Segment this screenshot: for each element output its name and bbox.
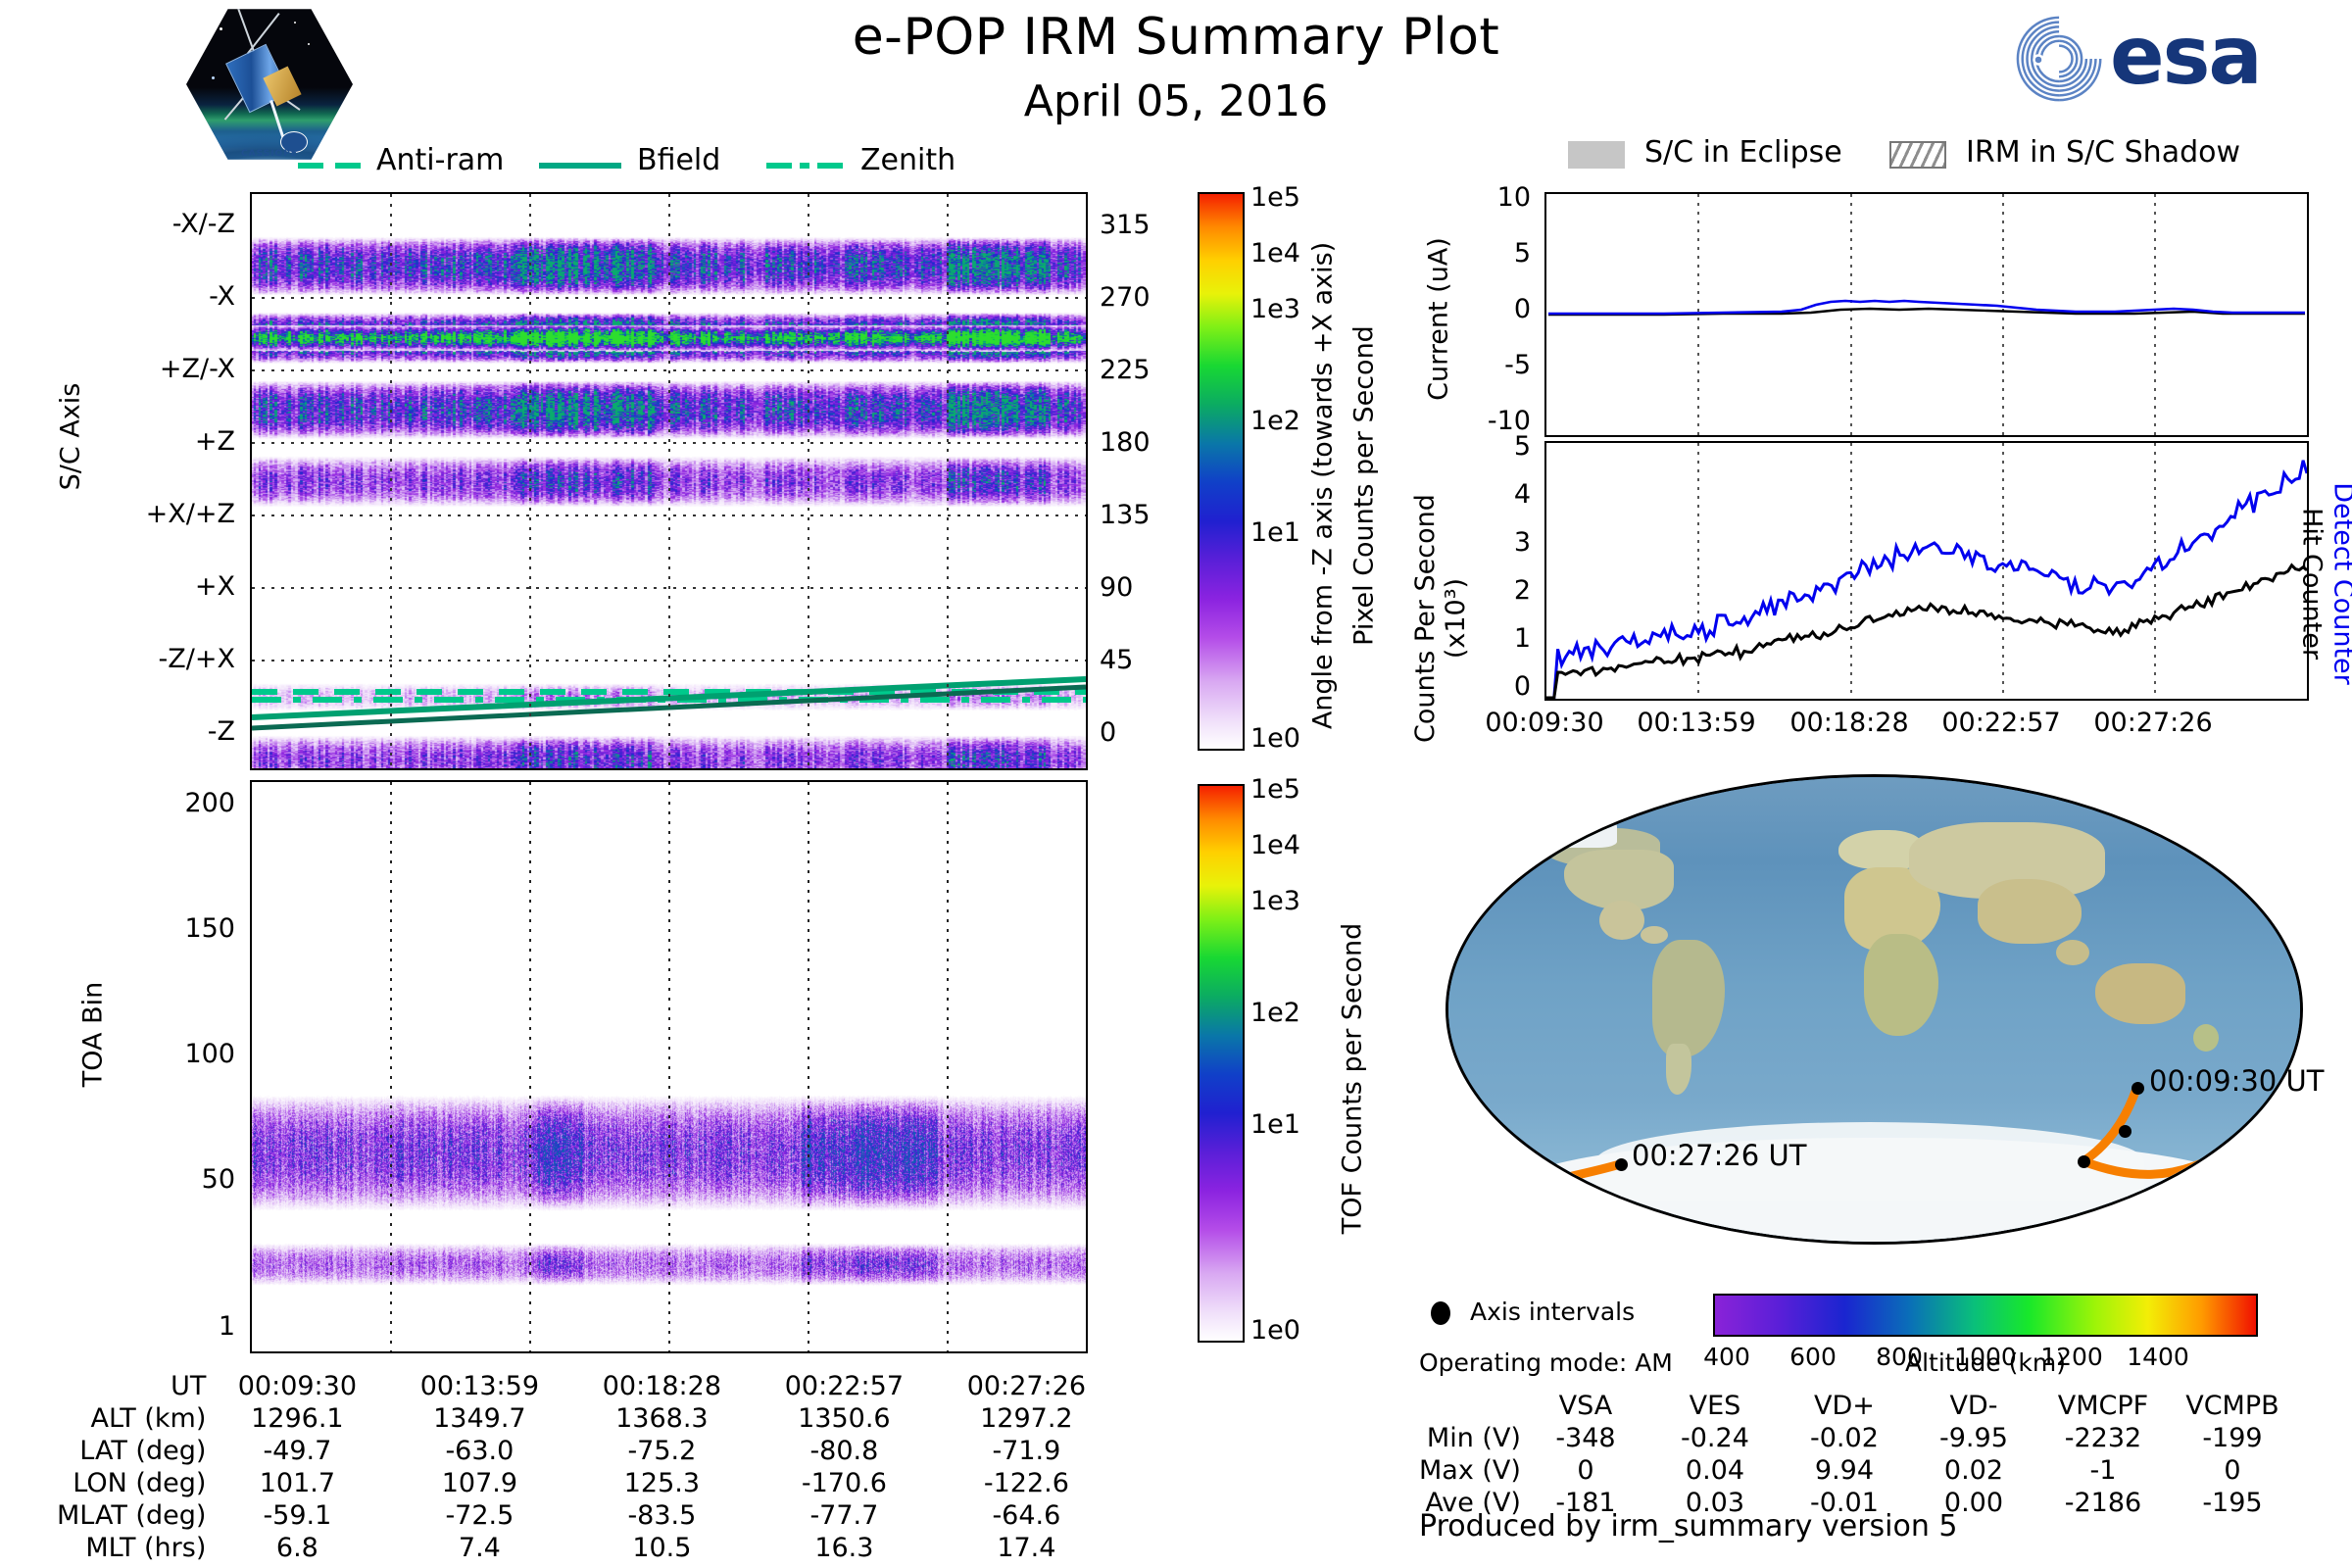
altitude-colorbar bbox=[1713, 1294, 2258, 1337]
track-dot-mid1 bbox=[2119, 1125, 2131, 1138]
table-row: MLAT (deg) -59.1 -72.5 -83.5 -77.7 -64.6 bbox=[57, 1499, 1117, 1532]
cell: 0.02 bbox=[1909, 1454, 2038, 1487]
cbtick-1e5: 1e5 bbox=[1250, 182, 1300, 213]
cell: -1 bbox=[2038, 1454, 2168, 1487]
counts-plot[interactable] bbox=[1544, 441, 2309, 701]
cell: 125.3 bbox=[570, 1467, 753, 1499]
legend-label-bfield: Bfield bbox=[637, 143, 720, 177]
ytick-6: -Z/+X bbox=[159, 644, 235, 674]
toa-ytick-150: 150 bbox=[184, 913, 235, 944]
ytick-3: +Z bbox=[195, 426, 235, 457]
angle-panel-ytick-labels: -X/-Z -X +Z/-X +Z +X/+Z +X -Z/+X -Z bbox=[118, 191, 245, 769]
cur-ytick-10: 10 bbox=[1497, 182, 1531, 213]
counts-ytick-labels: 5 4 3 2 1 0 bbox=[1421, 431, 1539, 725]
toa-panel-ylabel: TOA Bin bbox=[78, 927, 109, 1143]
toa-ytick-100: 100 bbox=[184, 1039, 235, 1069]
pixel-counts-colorbar bbox=[1198, 192, 1245, 751]
cell: -80.8 bbox=[753, 1435, 935, 1467]
axis-interval-dot-icon bbox=[1431, 1301, 1450, 1325]
rtick-3: 180 bbox=[1100, 427, 1151, 458]
row-label: LAT (deg) bbox=[57, 1435, 206, 1467]
cell: 00:22:57 bbox=[753, 1370, 935, 1402]
table-header-row: VSA VES VD+ VD- VMCPF VCMPB bbox=[1419, 1390, 2297, 1422]
table-row: UT 00:09:30 00:13:59 00:18:28 00:22:57 0… bbox=[57, 1370, 1117, 1402]
cur-ytick-5: 5 bbox=[1514, 238, 1531, 269]
cell: 9.94 bbox=[1780, 1454, 1909, 1487]
cbtick-1e3: 1e3 bbox=[1250, 294, 1300, 324]
current-series bbox=[1546, 194, 2307, 435]
cell: -0.24 bbox=[1650, 1422, 1780, 1454]
cbtick-1e1: 1e1 bbox=[1250, 517, 1300, 548]
track-dot-mid3 bbox=[1537, 1177, 1549, 1190]
cell: 6.8 bbox=[206, 1532, 388, 1564]
axis-intervals-label: Axis intervals bbox=[1470, 1298, 1635, 1326]
legend-label-irm-shadow: IRM in S/C Shadow bbox=[1966, 135, 2240, 170]
cnt-ytick-4: 4 bbox=[1514, 479, 1531, 510]
cell: -2232 bbox=[2038, 1422, 2168, 1454]
track-dot-end bbox=[1615, 1158, 1628, 1171]
cnt-xtick-1: 00:13:59 bbox=[1608, 708, 1785, 738]
toa-ytick-1: 1 bbox=[219, 1311, 235, 1342]
col-header-ves: VES bbox=[1650, 1390, 1780, 1422]
row-label: MLAT (deg) bbox=[57, 1499, 206, 1532]
row-label: ALT (km) bbox=[57, 1402, 206, 1435]
cell: -63.0 bbox=[388, 1435, 570, 1467]
row-label-min: Min (V) bbox=[1419, 1422, 1521, 1454]
cnt-ytick-3: 3 bbox=[1514, 527, 1531, 558]
cell: 0.04 bbox=[1650, 1454, 1780, 1487]
ytick-0: -X/-Z bbox=[172, 209, 235, 239]
altitude-colorbar-label: Altitude (km) bbox=[1713, 1348, 2258, 1377]
col-header-vmcpf: VMCPF bbox=[2038, 1390, 2168, 1422]
pixel-counts-colorbar-label: Pixel Counts per Second bbox=[1349, 231, 1380, 741]
row-label: UT bbox=[57, 1370, 206, 1402]
rtick-2: 225 bbox=[1100, 355, 1151, 385]
cell: -195 bbox=[2168, 1487, 2297, 1519]
voltage-table: VSA VES VD+ VD- VMCPF VCMPB Min (V) -348… bbox=[1419, 1390, 2297, 1519]
eclipse-swatch-icon bbox=[1568, 141, 1625, 169]
cnt-xtick-3: 00:22:57 bbox=[1913, 708, 2089, 738]
legend-label-anti-ram: Anti-ram bbox=[376, 143, 504, 177]
col-header-vdminus: VD- bbox=[1909, 1390, 2038, 1422]
cell: -77.7 bbox=[753, 1499, 935, 1532]
cell: -83.5 bbox=[570, 1499, 753, 1532]
ytick-1: -X bbox=[209, 281, 235, 312]
cell: -49.7 bbox=[206, 1435, 388, 1467]
cell: 101.7 bbox=[206, 1467, 388, 1499]
rtick-4: 135 bbox=[1100, 500, 1151, 530]
table-row: LON (deg) 101.7 107.9 125.3 -170.6 -122.… bbox=[57, 1467, 1117, 1499]
cnt-xtick-4: 00:27:26 bbox=[2065, 708, 2241, 738]
cell: 1350.6 bbox=[753, 1402, 935, 1435]
cell: -71.9 bbox=[935, 1435, 1117, 1467]
cell: -59.1 bbox=[206, 1499, 388, 1532]
tofcb-1e1: 1e1 bbox=[1250, 1109, 1300, 1140]
cell: -348 bbox=[1521, 1422, 1650, 1454]
counts-right-label-black: Hit Counter bbox=[2297, 422, 2327, 746]
table-row: MLT (hrs) 6.8 7.4 10.5 16.3 17.4 bbox=[57, 1532, 1117, 1564]
rtick-6: 45 bbox=[1100, 645, 1133, 675]
esa-swirl-icon bbox=[2014, 14, 2108, 104]
angle-spectrogram-plot[interactable] bbox=[250, 192, 1088, 770]
cnt-xtick-2: 00:18:28 bbox=[1761, 708, 1937, 738]
cell: 17.4 bbox=[935, 1532, 1117, 1564]
cur-ytick-0: 0 bbox=[1514, 294, 1531, 324]
ephemeris-table: UT 00:09:30 00:13:59 00:18:28 00:22:57 0… bbox=[57, 1370, 1117, 1564]
cell: 7.4 bbox=[388, 1532, 570, 1564]
cell: -75.2 bbox=[570, 1435, 753, 1467]
cell: 00:13:59 bbox=[388, 1370, 570, 1402]
row-label: LON (deg) bbox=[57, 1467, 206, 1499]
cell: 1349.7 bbox=[388, 1402, 570, 1435]
cell: -199 bbox=[2168, 1422, 2297, 1454]
cell: 10.5 bbox=[570, 1532, 753, 1564]
table-row: Min (V) -348 -0.24 -0.02 -9.95 -2232 -19… bbox=[1419, 1422, 2297, 1454]
rtick-0: 315 bbox=[1100, 210, 1151, 240]
counts-series bbox=[1546, 443, 2307, 699]
angle-panel-ylabel: S/C Axis bbox=[56, 329, 86, 545]
esa-logo: esa bbox=[2014, 14, 2308, 104]
shadow-swatch-icon bbox=[1889, 141, 1946, 169]
tof-counts-colorbar bbox=[1198, 784, 1245, 1343]
cell: -2186 bbox=[2038, 1487, 2168, 1519]
cell: 00:27:26 bbox=[935, 1370, 1117, 1402]
cbtick-1e4: 1e4 bbox=[1250, 238, 1300, 269]
toa-gridlines bbox=[252, 782, 1086, 1351]
row-label-max: Max (V) bbox=[1419, 1454, 1521, 1487]
table-row: LAT (deg) -49.7 -63.0 -75.2 -80.8 -71.9 bbox=[57, 1435, 1117, 1467]
orbit-track bbox=[1448, 777, 2303, 1245]
ground-track-map[interactable]: 00:09:30 UT 00:27:26 UT bbox=[1445, 774, 2303, 1245]
cell: 0 bbox=[1521, 1454, 1650, 1487]
cur-ytick-m5: -5 bbox=[1504, 350, 1531, 380]
tof-counts-colorbar-label: TOF Counts per Second bbox=[1338, 824, 1368, 1334]
cnt-ytick-1: 1 bbox=[1514, 623, 1531, 654]
cnt-xtick-0: 00:09:30 bbox=[1456, 708, 1633, 738]
ytick-7: -Z bbox=[208, 716, 235, 747]
cell: -9.95 bbox=[1909, 1422, 2038, 1454]
tofcb-1e4: 1e4 bbox=[1250, 830, 1300, 860]
angle-panel-right-ticks: 315 270 225 180 135 90 45 0 bbox=[1094, 192, 1182, 770]
legend-label-sc-eclipse: S/C in Eclipse bbox=[1644, 135, 1842, 170]
esa-wordmark: esa bbox=[2110, 12, 2261, 102]
track-dot-start bbox=[2131, 1082, 2144, 1095]
page-title: e-POP IRM Summary Plot bbox=[0, 8, 2352, 67]
tofcb-1e0: 1e0 bbox=[1250, 1315, 1300, 1346]
toa-spectrogram-plot[interactable] bbox=[250, 780, 1088, 1353]
cbtick-1e0: 1e0 bbox=[1250, 723, 1300, 754]
cell: 00:18:28 bbox=[570, 1370, 753, 1402]
col-header-vdplus: VD+ bbox=[1780, 1390, 1909, 1422]
toa-ytick-50: 50 bbox=[202, 1164, 235, 1195]
cell: -122.6 bbox=[935, 1467, 1117, 1499]
cnt-ytick-2: 2 bbox=[1514, 575, 1531, 606]
footer-produced-by: Produced by irm_summary version 5 bbox=[1419, 1509, 1957, 1543]
angle-gridlines bbox=[252, 194, 1086, 768]
eclipse-legend: S/C in Eclipse IRM in S/C Shadow bbox=[1568, 137, 2313, 176]
tofcb-1e5: 1e5 bbox=[1250, 774, 1300, 805]
current-plot[interactable] bbox=[1544, 192, 2309, 437]
rtick-1: 270 bbox=[1100, 282, 1151, 313]
operating-mode-label: Operating mode: AM bbox=[1419, 1348, 1673, 1377]
tofcb-1e2: 1e2 bbox=[1250, 998, 1300, 1028]
rtick-5: 90 bbox=[1100, 572, 1133, 603]
cell: 0 bbox=[2168, 1454, 2297, 1487]
counts-right-label-blue: Detect Counter bbox=[2328, 422, 2352, 746]
rtick-7: 0 bbox=[1100, 717, 1116, 748]
legend-label-zenith: Zenith bbox=[860, 143, 955, 177]
track-dot-mid2 bbox=[2078, 1155, 2090, 1168]
cell: 16.3 bbox=[753, 1532, 935, 1564]
cell: 00:09:30 bbox=[206, 1370, 388, 1402]
left-legend: Anti-ram Bfield Zenith bbox=[294, 145, 1000, 188]
cell: 1297.2 bbox=[935, 1402, 1117, 1435]
page-subtitle: April 05, 2016 bbox=[0, 76, 2352, 126]
ytick-5: +X bbox=[195, 571, 235, 602]
cell: -72.5 bbox=[388, 1499, 570, 1532]
col-header-vsa: VSA bbox=[1521, 1390, 1650, 1422]
pixel-counts-colorbar-ticks: 1e5 1e4 1e3 1e2 1e1 1e0 bbox=[1250, 182, 1358, 770]
cnt-ytick-0: 0 bbox=[1514, 671, 1531, 702]
cell: -170.6 bbox=[753, 1467, 935, 1499]
cell: -0.02 bbox=[1780, 1422, 1909, 1454]
cell: 1296.1 bbox=[206, 1402, 388, 1435]
ytick-4: +X/+Z bbox=[146, 499, 235, 529]
cassiope-mission-patch-icon: CASSIOPE bbox=[186, 6, 353, 163]
cell: -64.6 bbox=[935, 1499, 1117, 1532]
track-end-time-label: 00:27:26 UT bbox=[1632, 1139, 1806, 1172]
row-label: MLT (hrs) bbox=[57, 1532, 206, 1564]
cbtick-1e2: 1e2 bbox=[1250, 406, 1300, 436]
cell: 1368.3 bbox=[570, 1402, 753, 1435]
ytick-2: +Z/-X bbox=[160, 354, 235, 384]
counts-xtick-labels: 00:09:30 00:13:59 00:18:28 00:22:57 00:2… bbox=[1544, 708, 2309, 747]
table-row: ALT (km) 1296.1 1349.7 1368.3 1350.6 129… bbox=[57, 1402, 1117, 1435]
current-ytick-labels: 10 5 0 -5 -10 bbox=[1421, 182, 1539, 437]
cnt-ytick-5: 5 bbox=[1514, 431, 1531, 462]
table-row: Max (V) 0 0.04 9.94 0.02 -1 0 bbox=[1419, 1454, 2297, 1487]
col-header-vcmpb: VCMPB bbox=[2168, 1390, 2297, 1422]
cell: 107.9 bbox=[388, 1467, 570, 1499]
tofcb-1e3: 1e3 bbox=[1250, 886, 1300, 916]
toa-panel-ytick-labels: 200 150 100 50 1 bbox=[118, 779, 245, 1357]
track-start-time-label: 00:09:30 UT bbox=[2149, 1064, 2324, 1098]
toa-ytick-200: 200 bbox=[184, 788, 235, 818]
